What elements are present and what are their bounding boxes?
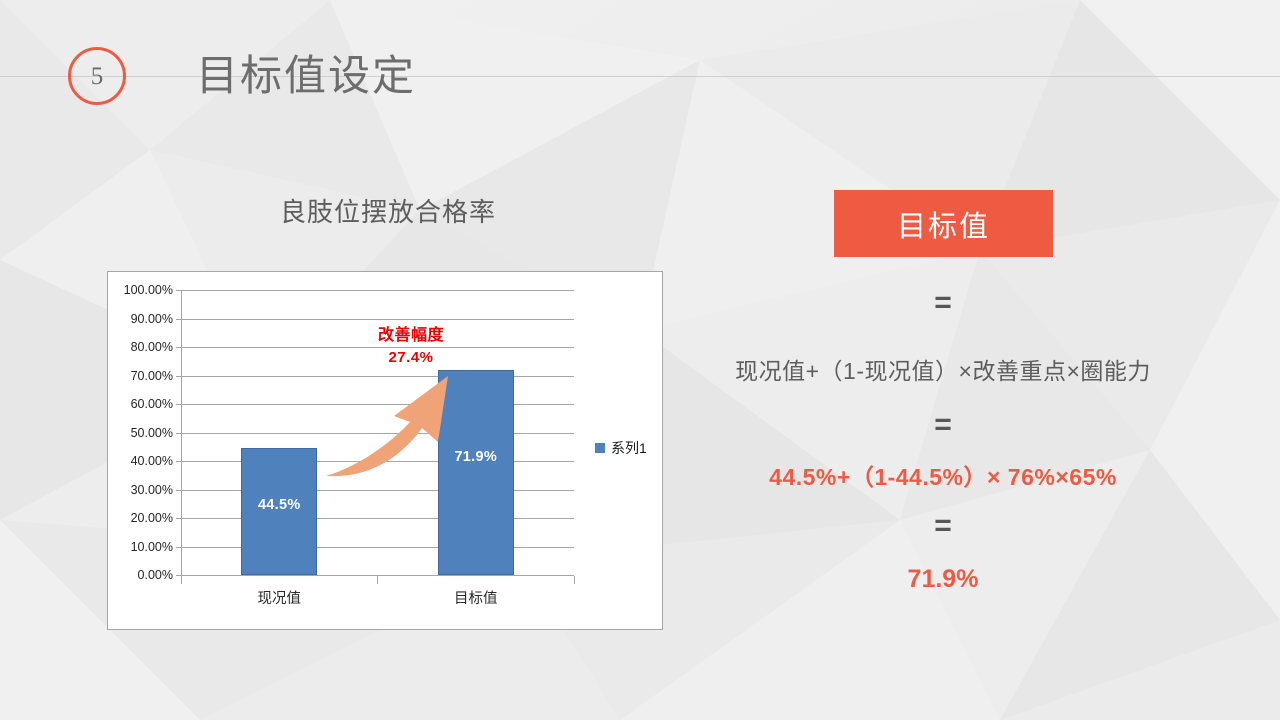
y-axis-tick (176, 404, 182, 405)
bar-data-label: 44.5% (242, 497, 316, 513)
y-axis-tick-label: 60.00% (53, 397, 173, 411)
equals-sign-2: = (843, 410, 1043, 440)
equals-sign-3: = (843, 511, 1043, 541)
chart-legend: 系列1 (595, 438, 647, 458)
y-axis-tick (176, 547, 182, 548)
improvement-annotation: 改善幅度 27.4% (331, 325, 491, 369)
y-axis-tick-label: 100.00% (53, 283, 173, 297)
bar[interactable]: 71.9% (438, 370, 514, 575)
y-axis-tick (176, 347, 182, 348)
gridline (181, 461, 574, 462)
target-value-badge: 目标值 (834, 190, 1053, 257)
bar[interactable]: 44.5% (241, 448, 317, 575)
x-axis-tick (181, 576, 182, 584)
y-axis-tick-label: 0.00% (53, 568, 173, 582)
y-axis-tick-label: 10.00% (53, 540, 173, 554)
slide-number-text: 5 (91, 64, 104, 89)
y-axis-tick-label: 90.00% (53, 312, 173, 326)
y-axis-tick-label: 70.00% (53, 369, 173, 383)
gridline (181, 319, 574, 320)
x-axis-category-label: 现况值 (204, 587, 354, 608)
x-axis-tick (574, 576, 575, 584)
formula-symbolic: 现况值+（1-现况值）×改善重点×圈能力 (693, 352, 1193, 386)
result-value: 71.9% (693, 565, 1193, 594)
legend-label-series1: 系列1 (611, 438, 647, 458)
gridline (181, 518, 574, 519)
page-title: 目标值设定 (196, 46, 416, 106)
improvement-value: 27.4% (331, 347, 491, 369)
y-axis-tick-label: 20.00% (53, 511, 173, 525)
bar-data-label: 71.9% (439, 449, 513, 465)
y-axis-tick (176, 290, 182, 291)
equals-sign-1: = (843, 288, 1043, 318)
y-axis-tick-label: 30.00% (53, 483, 173, 497)
y-axis-tick (176, 461, 182, 462)
y-axis-tick-label: 80.00% (53, 340, 173, 354)
x-axis-category-label: 目标值 (401, 587, 551, 608)
x-axis-tick (377, 576, 378, 584)
y-axis-tick-label: 40.00% (53, 454, 173, 468)
y-axis-tick-label: 50.00% (53, 426, 173, 440)
bar-chart: 100.00%90.00%80.00%70.00%60.00%50.00%40.… (107, 271, 663, 630)
y-axis-tick (176, 433, 182, 434)
header-divider-line (0, 76, 1280, 77)
slide-canvas: 5 目标值设定 良肢位摆放合格率 100.00%90.00%80.00%70.0… (0, 0, 1280, 720)
chart-title: 良肢位摆放合格率 (108, 192, 668, 229)
target-value-badge-label: 目标值 (897, 203, 990, 245)
y-axis-tick (176, 490, 182, 491)
slide-number-badge: 5 (68, 47, 126, 105)
gridline (181, 376, 574, 377)
gridline (181, 490, 574, 491)
formula-numeric: 44.5%+（1-44.5%）× 76%×65% (693, 458, 1193, 492)
y-axis-tick (176, 518, 182, 519)
gridline (181, 290, 574, 291)
improvement-label: 改善幅度 (378, 327, 444, 344)
gridline (181, 547, 574, 548)
gridline (181, 433, 574, 434)
growth-arrow-icon (322, 372, 452, 482)
y-axis-tick (176, 319, 182, 320)
gridline (181, 404, 574, 405)
legend-swatch-series1 (595, 443, 605, 453)
y-axis-tick (176, 376, 182, 377)
